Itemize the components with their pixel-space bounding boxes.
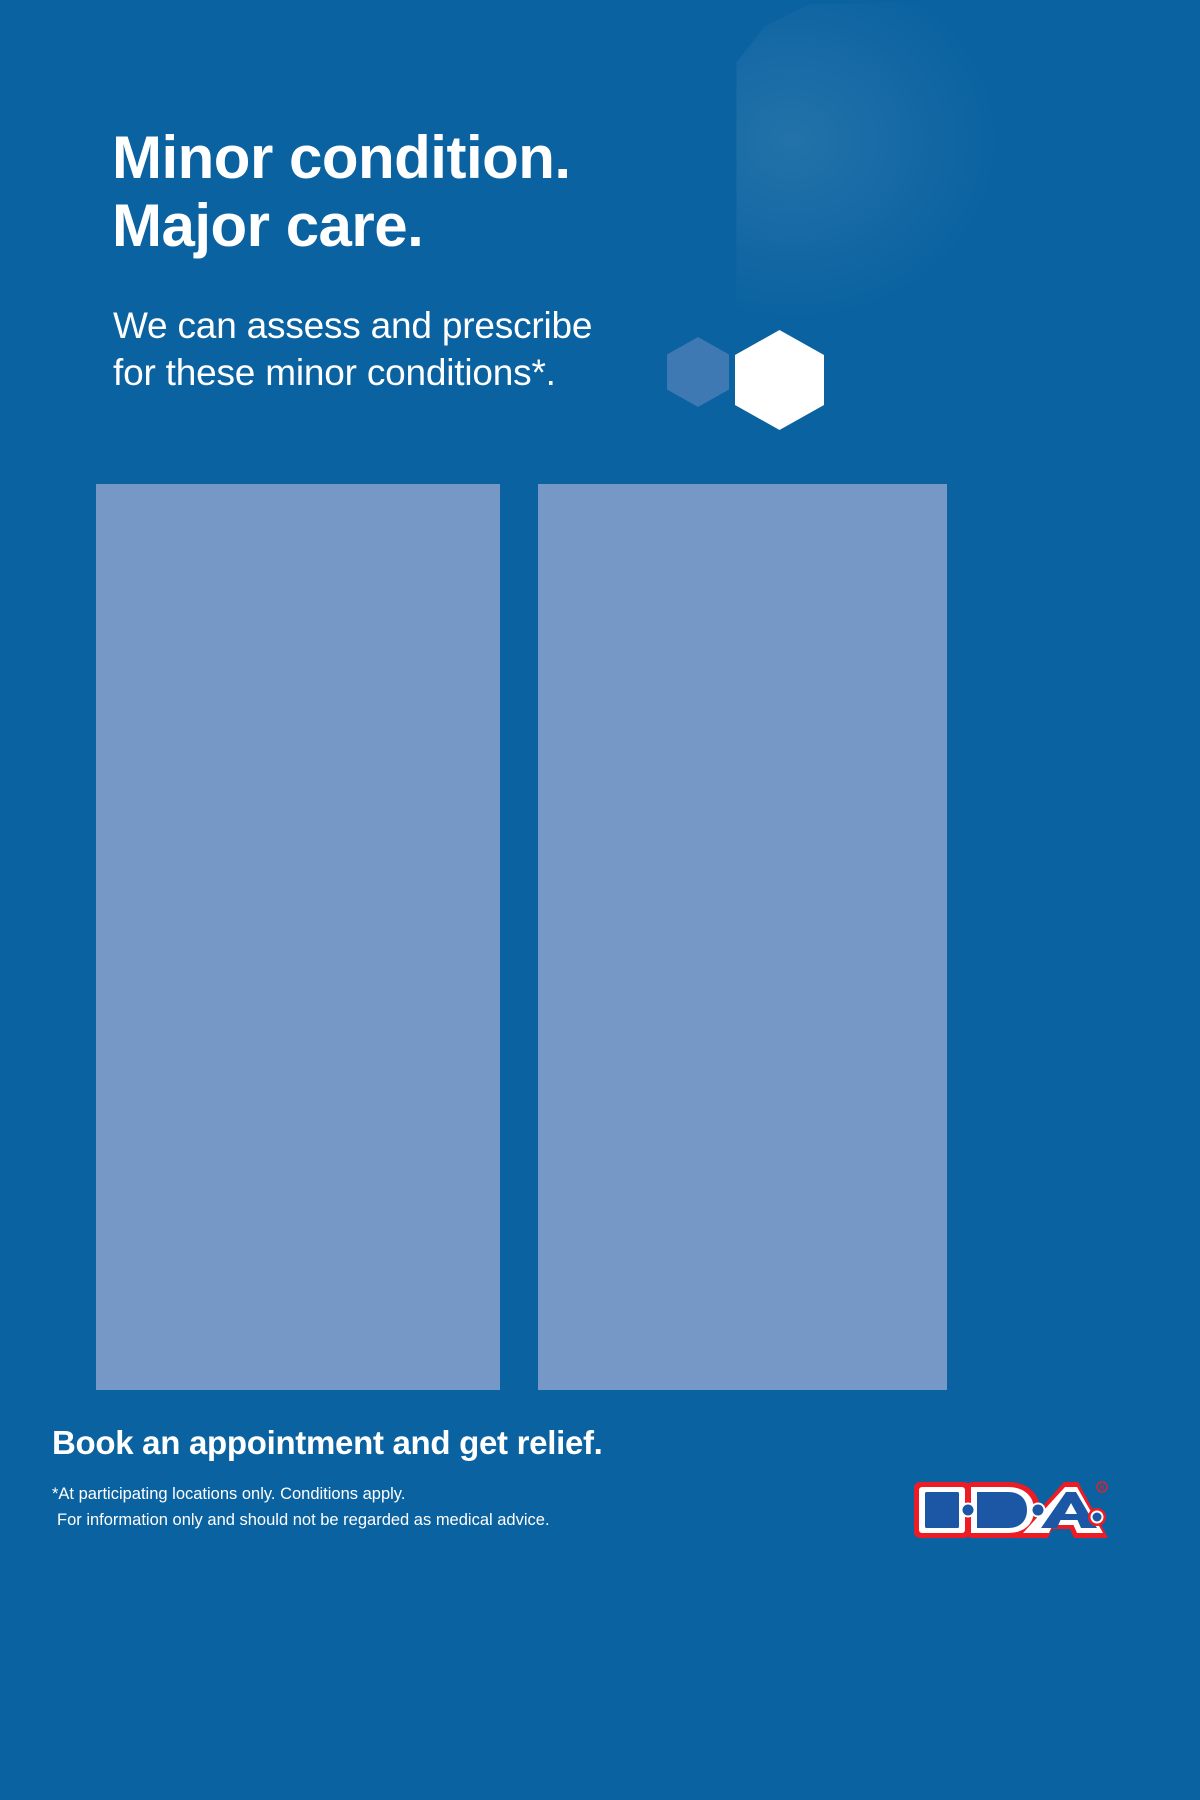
page-subtitle: We can assess and prescribe for these mi…	[113, 303, 592, 396]
poster-root: Minor condition. Major care. We can asse…	[0, 0, 1200, 1800]
page-title: Minor condition. Major care.	[112, 124, 571, 260]
conditions-list-left	[96, 484, 500, 1390]
conditions-list-right	[538, 484, 947, 1390]
disclaimer-line-1: *At participating locations only. Condit…	[52, 1482, 550, 1508]
conditions-panel-group	[96, 484, 947, 1390]
footer-cta-heading: Book an appointment and get relief.	[52, 1424, 603, 1462]
disclaimer-line-2: For information only and should not be r…	[52, 1508, 550, 1534]
disclaimer-block: *At participating locations only. Condit…	[52, 1482, 550, 1533]
svg-text:R: R	[1099, 1485, 1104, 1492]
hexagon-accent-icon	[667, 337, 729, 407]
ida-logo-registered-mark: R	[1097, 1482, 1107, 1492]
ida-logo: R	[914, 1476, 1110, 1544]
